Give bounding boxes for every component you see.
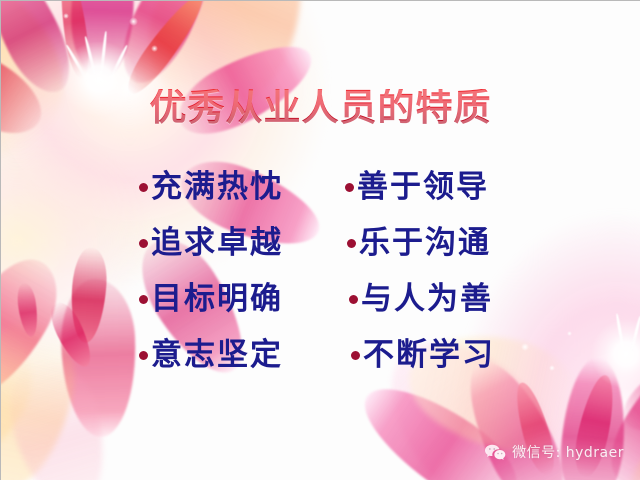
list-item: 追求卓越 <box>139 215 283 271</box>
list-item: 不断学习 <box>351 327 495 383</box>
bullet-label: 乐于沟通 <box>359 228 491 259</box>
bullet-dot-icon <box>139 239 148 248</box>
bullet-label: 充满热忱 <box>151 172 283 203</box>
bullet-dot-icon <box>139 351 148 360</box>
bullet-label: 意志坚定 <box>151 340 283 371</box>
bullet-label: 与人为善 <box>361 284 493 315</box>
slide-content: 优秀从业人员的特质 充满热忱 追求卓越 目标明确 意志坚定 <box>1 1 640 480</box>
watermark: 微信号: hydraer <box>484 442 624 462</box>
bullet-column-left: 充满热忱 追求卓越 目标明确 意志坚定 <box>139 159 283 383</box>
list-item: 意志坚定 <box>139 327 283 383</box>
bullet-dot-icon <box>351 351 360 360</box>
list-item: 充满热忱 <box>139 159 283 215</box>
bullet-dot-icon <box>349 295 358 304</box>
bullet-label: 不断学习 <box>363 340 495 371</box>
list-item: 目标明确 <box>139 271 283 327</box>
bullet-label: 善于领导 <box>357 172 489 203</box>
bullet-dot-icon <box>345 183 354 192</box>
bullet-dot-icon <box>139 183 148 192</box>
bullet-label: 追求卓越 <box>151 228 283 259</box>
list-item: 与人为善 <box>349 271 495 327</box>
bullet-label: 目标明确 <box>151 284 283 315</box>
slide-canvas: 优秀从业人员的特质 充满热忱 追求卓越 目标明确 意志坚定 <box>0 0 640 480</box>
page-title: 优秀从业人员的特质 <box>1 89 640 128</box>
wechat-icon <box>484 443 506 461</box>
bullet-dot-icon <box>347 239 356 248</box>
list-item: 善于领导 <box>345 159 495 215</box>
bullet-dot-icon <box>139 295 148 304</box>
list-item: 乐于沟通 <box>347 215 495 271</box>
bullet-column-right: 善于领导 乐于沟通 与人为善 不断学习 <box>345 159 495 383</box>
watermark-text: 微信号: hydraer <box>512 442 624 462</box>
